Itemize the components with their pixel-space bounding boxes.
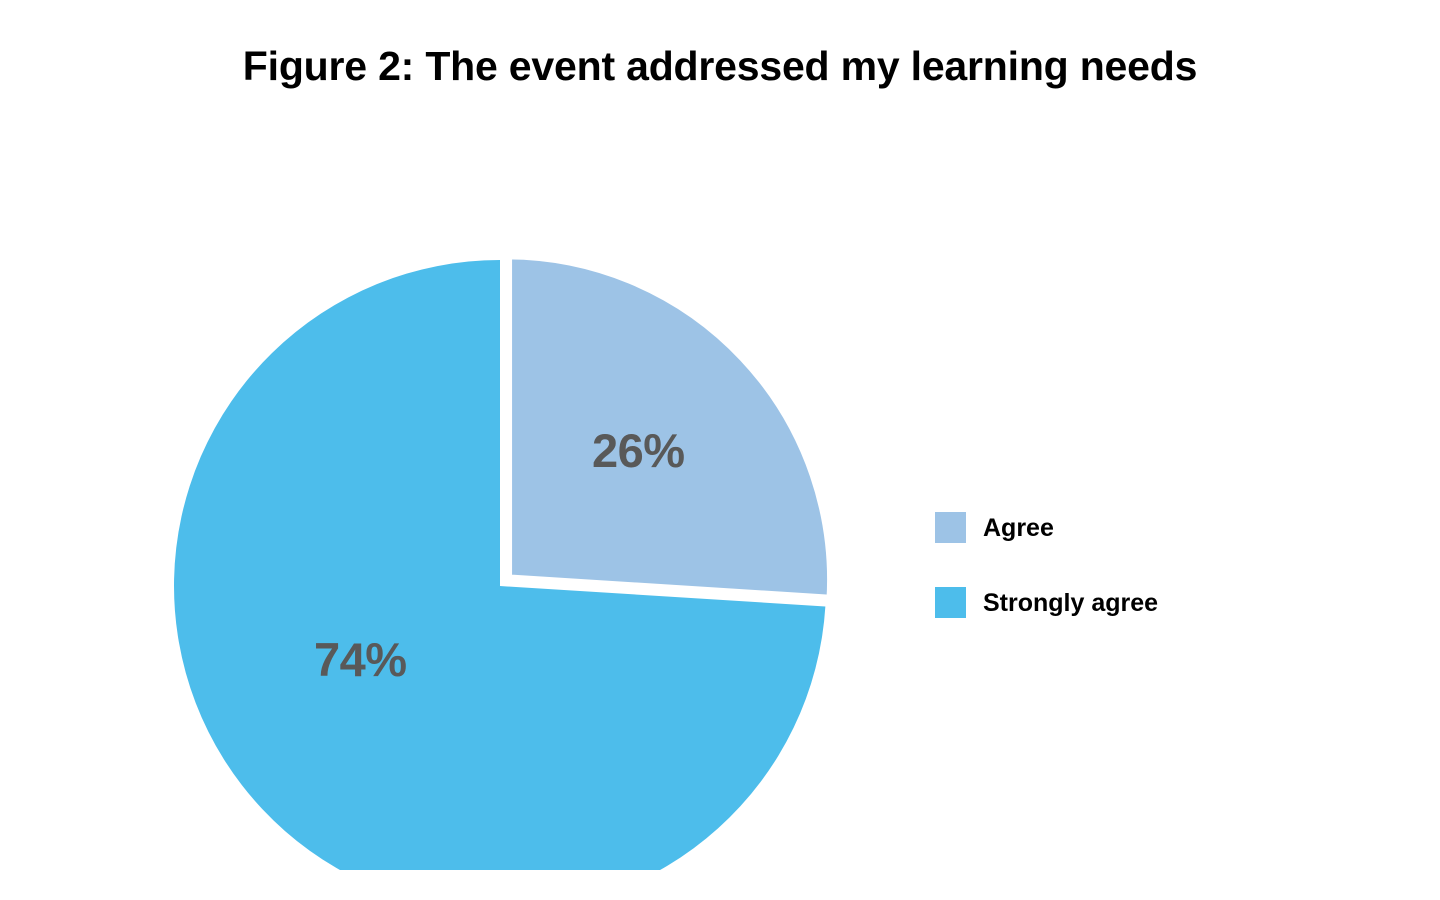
pie-chart — [150, 130, 870, 870]
legend-item-agree[interactable]: Agree — [935, 512, 1265, 543]
page-title: Figure 2: The event addressed my learnin… — [0, 40, 1440, 92]
chart-plot-area: 26% 74% Agree Strongly agree — [0, 100, 1440, 900]
chart-legend: Agree Strongly agree — [935, 512, 1265, 618]
data-label-agree: 26% — [592, 427, 685, 474]
legend-label-strongly-agree: Strongly agree — [983, 589, 1158, 617]
legend-swatch-agree — [935, 512, 966, 543]
data-label-strongly-agree: 74% — [314, 636, 407, 683]
legend-swatch-strongly-agree — [935, 587, 966, 618]
legend-item-strongly-agree[interactable]: Strongly agree — [935, 587, 1265, 618]
legend-label-agree: Agree — [983, 514, 1054, 542]
